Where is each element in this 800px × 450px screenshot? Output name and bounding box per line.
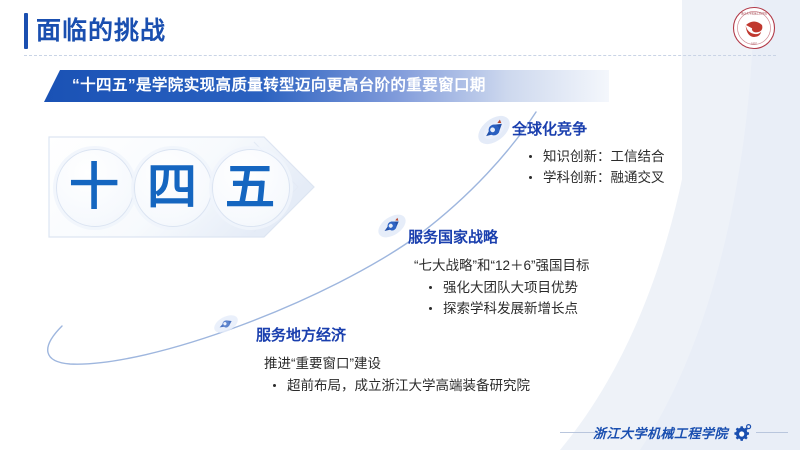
milestone-bullet-list: 超前布局，成立浙江大学高端装备研究院 — [270, 375, 530, 396]
title-accent-bar — [24, 13, 28, 49]
banner-text: “十四五”是学院实现高质量转型迈向更高台阶的重要窗口期 — [72, 70, 486, 102]
milestone-heading: 服务地方经济 — [256, 326, 530, 346]
milestone-lead-text: “七大战略”和“12＋6”强国目标 — [414, 255, 590, 276]
milestone-bullet-list: 知识创新：工信结合 学科创新：融通交叉 — [526, 146, 665, 188]
list-item: 强化大团队大项目优势 — [426, 277, 590, 298]
milestone-heading: 服务国家战略 — [408, 228, 590, 248]
milestone-heading: 全球化竞争 — [512, 120, 665, 140]
milestone-local-economy: 服务地方经济 推进“重要窗口”建设 超前布局，成立浙江大学高端装备研究院 — [256, 326, 530, 396]
list-item: 超前布局，成立浙江大学高端装备研究院 — [270, 375, 530, 396]
list-item: 知识创新：工信结合 — [526, 146, 665, 167]
gear-icon — [732, 423, 752, 443]
list-item: 探索学科发展新增长点 — [426, 298, 590, 319]
milestone-lead-text: 推进“重要窗口”建设 — [264, 353, 530, 374]
svg-text:1897: 1897 — [751, 42, 757, 46]
chevron-char-1: 十 — [56, 149, 132, 225]
list-item: 学科创新：融通交叉 — [526, 167, 665, 188]
title-divider — [24, 55, 776, 56]
slide-canvas: 面临的挑战 浙江大学机械工程学院 1897 “十四五”是学院 — [0, 0, 800, 450]
chevron-char-2: 四 — [134, 149, 210, 225]
background-right-band — [682, 0, 800, 450]
five-year-plan-chevron: 十 四 五 — [48, 136, 316, 238]
footer-org-name: 浙江大学机械工程学院 — [593, 423, 728, 442]
chevron-char-3: 五 — [212, 149, 288, 225]
headline-banner: “十四五”是学院实现高质量转型迈向更高台阶的重要窗口期 — [44, 70, 609, 102]
footer-rule-right — [756, 432, 788, 433]
rocket-icon — [374, 208, 410, 244]
milestone-global-competition: 全球化竞争 知识创新：工信结合 学科创新：融通交叉 — [512, 120, 665, 188]
milestone-national-strategy: 服务国家战略 “七大战略”和“12＋6”强国目标 强化大团队大项目优势 探索学科… — [408, 228, 590, 319]
university-seal-icon: 浙江大学机械工程学院 1897 — [732, 6, 776, 50]
svg-text:浙江大学机械工程学院: 浙江大学机械工程学院 — [741, 11, 767, 15]
milestone-bullet-list: 强化大团队大项目优势 探索学科发展新增长点 — [426, 277, 590, 319]
rocket-icon — [210, 308, 242, 340]
page-title: 面临的挑战 — [36, 14, 166, 48]
rocket-icon — [474, 110, 514, 150]
